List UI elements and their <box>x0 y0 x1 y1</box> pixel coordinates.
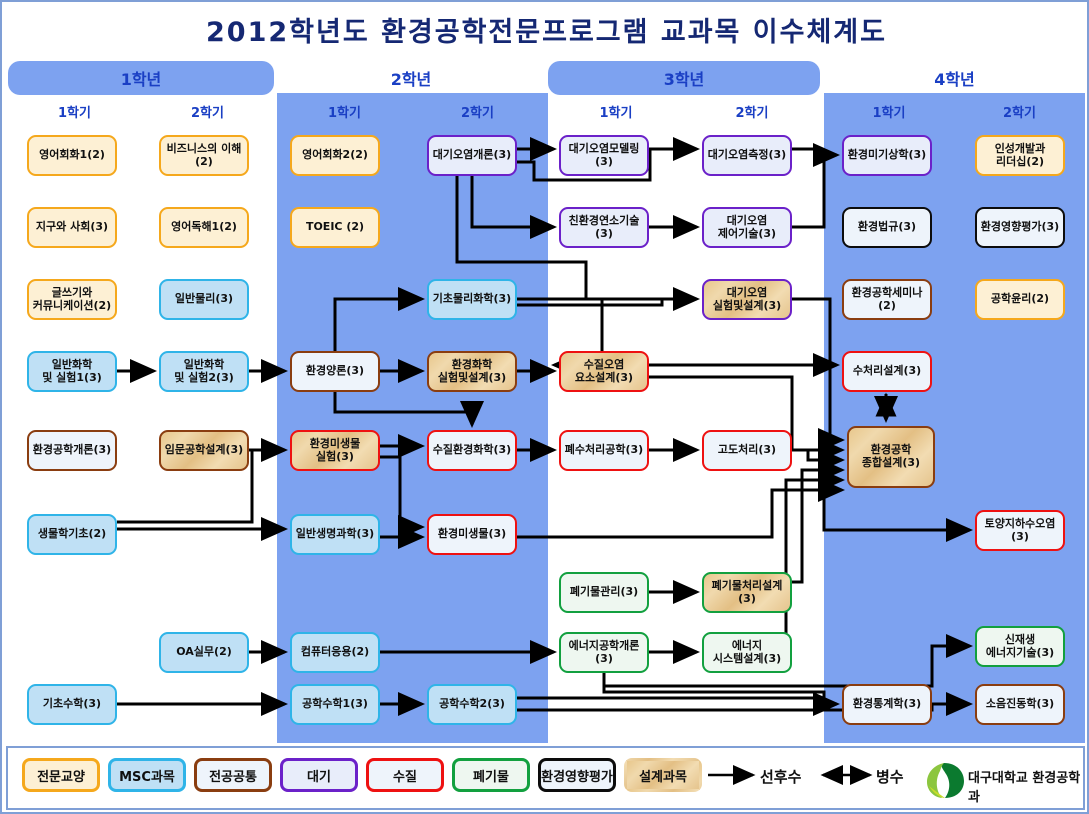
course-box[interactable]: 신재생 에너지기술(3) <box>975 626 1065 667</box>
course-box[interactable]: 글쓰기와 커뮤니케이션(2) <box>27 279 117 320</box>
course-box[interactable]: 에너지공학개론 (3) <box>559 632 649 673</box>
course-label: 대기오염모델링 (3) <box>569 143 640 169</box>
course-label: 인성개발과 리더십(2) <box>995 143 1046 169</box>
course-box[interactable]: 환경공학세미나 (2) <box>842 279 932 320</box>
course-label: 에너지공학개론 (3) <box>569 640 640 666</box>
course-box[interactable]: 일반생명과학(3) <box>290 514 380 555</box>
course-box[interactable]: 수처리설계(3) <box>842 351 932 392</box>
course-label: 공학수학2(3) <box>439 698 505 711</box>
course-label: 생물학기초(2) <box>38 528 106 541</box>
course-box[interactable]: 영어회화2(2) <box>290 135 380 176</box>
course-label: 영어회화1(2) <box>39 149 105 162</box>
course-box[interactable]: 일반화학 및 실험1(3) <box>27 351 117 392</box>
course-box[interactable]: 인성개발과 리더십(2) <box>975 135 1065 176</box>
course-label: 환경미생물 실험(3) <box>310 438 361 464</box>
course-box[interactable]: 환경공학 종합설계(3) <box>847 426 935 488</box>
course-box[interactable]: 지구와 사회(3) <box>27 207 117 248</box>
course-label: 폐수처리공학(3) <box>565 444 643 457</box>
course-box[interactable]: 비즈니스의 이해 (2) <box>159 135 249 176</box>
course-box[interactable]: 공학윤리(2) <box>975 279 1065 320</box>
course-box[interactable]: 대기오염 실험및설계(3) <box>702 279 792 320</box>
course-label: 비즈니스의 이해 (2) <box>167 143 242 169</box>
course-box[interactable]: 환경미기상학(3) <box>842 135 932 176</box>
course-box[interactable]: 친환경연소기술 (3) <box>559 207 649 248</box>
course-label: 고도처리(3) <box>718 444 776 457</box>
course-label: 영어회화2(2) <box>302 149 368 162</box>
course-box[interactable]: 수질오염 요소설계(3) <box>559 351 649 392</box>
course-box[interactable]: 일반화학 및 실험2(3) <box>159 351 249 392</box>
course-label: 토양지하수오염 (3) <box>985 518 1056 544</box>
course-label: 일반물리(3) <box>175 293 233 306</box>
course-box[interactable]: 대기오염개론(3) <box>427 135 517 176</box>
course-box[interactable]: 토양지하수오염 (3) <box>975 510 1065 551</box>
course-label: 일반생명과학(3) <box>296 528 374 541</box>
course-box[interactable]: 공학수학2(3) <box>427 684 517 725</box>
course-box[interactable]: 폐기물처리설계 (3) <box>702 572 792 613</box>
course-label: 대기오염개론(3) <box>433 149 511 162</box>
course-box[interactable]: 폐기물관리(3) <box>559 572 649 613</box>
course-box[interactable]: 환경양론(3) <box>290 351 380 392</box>
course-box[interactable]: 영어독해1(2) <box>159 207 249 248</box>
course-box[interactable]: 환경공학개론(3) <box>27 430 117 471</box>
course-label: 수질환경화학(3) <box>433 444 511 457</box>
course-box[interactable]: 기초물리화학(3) <box>427 279 517 320</box>
course-label: 환경미생물(3) <box>438 528 506 541</box>
course-box[interactable]: 영어회화1(2) <box>27 135 117 176</box>
course-box[interactable]: 환경미생물 실험(3) <box>290 430 380 471</box>
course-label: 환경공학 종합설계(3) <box>862 444 920 470</box>
course-label: 일반화학 및 실험1(3) <box>42 359 102 385</box>
course-box[interactable]: 환경법규(3) <box>842 207 932 248</box>
course-box[interactable]: 수질환경화학(3) <box>427 430 517 471</box>
course-box[interactable]: 공학수학1(3) <box>290 684 380 725</box>
course-label: 대기오염 제어기술(3) <box>718 215 776 241</box>
course-box[interactable]: 대기오염측정(3) <box>702 135 792 176</box>
course-label: 공학윤리(2) <box>991 293 1049 306</box>
course-label: 컴퓨터응용(2) <box>301 646 369 659</box>
course-label: 공학수학1(3) <box>302 698 368 711</box>
course-label: 대기오염측정(3) <box>708 149 786 162</box>
course-label: OA실무(2) <box>176 646 232 659</box>
course-box[interactable]: 대기오염 제어기술(3) <box>702 207 792 248</box>
course-label: 수처리설계(3) <box>853 365 921 378</box>
course-label: 지구와 사회(3) <box>36 221 108 234</box>
course-label: 환경양론(3) <box>306 365 364 378</box>
course-box[interactable]: 일반물리(3) <box>159 279 249 320</box>
course-label: 영어독해1(2) <box>171 221 237 234</box>
course-label: 수질오염 요소설계(3) <box>575 359 633 385</box>
course-label: 기초물리화학(3) <box>433 293 511 306</box>
course-box[interactable]: OA실무(2) <box>159 632 249 673</box>
course-box[interactable]: 소음진동학(3) <box>975 684 1065 725</box>
course-box[interactable]: 생물학기초(2) <box>27 514 117 555</box>
course-box[interactable]: 환경화학 실험및설계(3) <box>427 351 517 392</box>
course-label: 환경공학개론(3) <box>33 444 111 457</box>
course-box[interactable]: 폐수처리공학(3) <box>559 430 649 471</box>
course-box[interactable]: 환경통계학(3) <box>842 684 932 725</box>
course-label: 대기오염 실험및설계(3) <box>713 287 781 313</box>
course-label: 글쓰기와 커뮤니케이션(2) <box>33 287 111 313</box>
course-box[interactable]: 고도처리(3) <box>702 430 792 471</box>
course-label: 환경법규(3) <box>858 221 916 234</box>
course-label: 환경통계학(3) <box>853 698 921 711</box>
course-label: TOEIC (2) <box>306 221 364 234</box>
course-box[interactable]: 대기오염모델링 (3) <box>559 135 649 176</box>
course-label: 환경미기상학(3) <box>848 149 926 162</box>
course-label: 폐기물처리설계 (3) <box>712 580 783 606</box>
course-label: 환경화학 실험및설계(3) <box>438 359 506 385</box>
course-box[interactable]: TOEIC (2) <box>290 207 380 248</box>
course-box[interactable]: 환경미생물(3) <box>427 514 517 555</box>
course-box[interactable]: 환경영향평가(3) <box>975 207 1065 248</box>
course-label: 소음진동학(3) <box>986 698 1054 711</box>
course-label: 임문공학설계(3) <box>165 444 243 457</box>
course-label: 폐기물관리(3) <box>570 586 638 599</box>
course-label: 신재생 에너지기술(3) <box>986 634 1054 660</box>
course-label: 환경공학세미나 (2) <box>852 287 923 313</box>
course-box[interactable]: 컴퓨터응용(2) <box>290 632 380 673</box>
course-box[interactable]: 임문공학설계(3) <box>159 430 249 471</box>
course-box[interactable]: 에너지 시스템설계(3) <box>702 632 792 673</box>
course-label: 친환경연소기술 (3) <box>569 215 640 241</box>
curriculum-flowchart-page: 2012학년도 환경공학전문프로그램 교과목 이수체계도 1학년 2학년 3학년… <box>0 0 1089 814</box>
course-label: 환경영향평가(3) <box>981 221 1059 234</box>
course-label: 기초수학(3) <box>43 698 101 711</box>
course-label: 일반화학 및 실험2(3) <box>174 359 234 385</box>
course-box[interactable]: 기초수학(3) <box>27 684 117 725</box>
course-label: 에너지 시스템설계(3) <box>713 640 781 666</box>
